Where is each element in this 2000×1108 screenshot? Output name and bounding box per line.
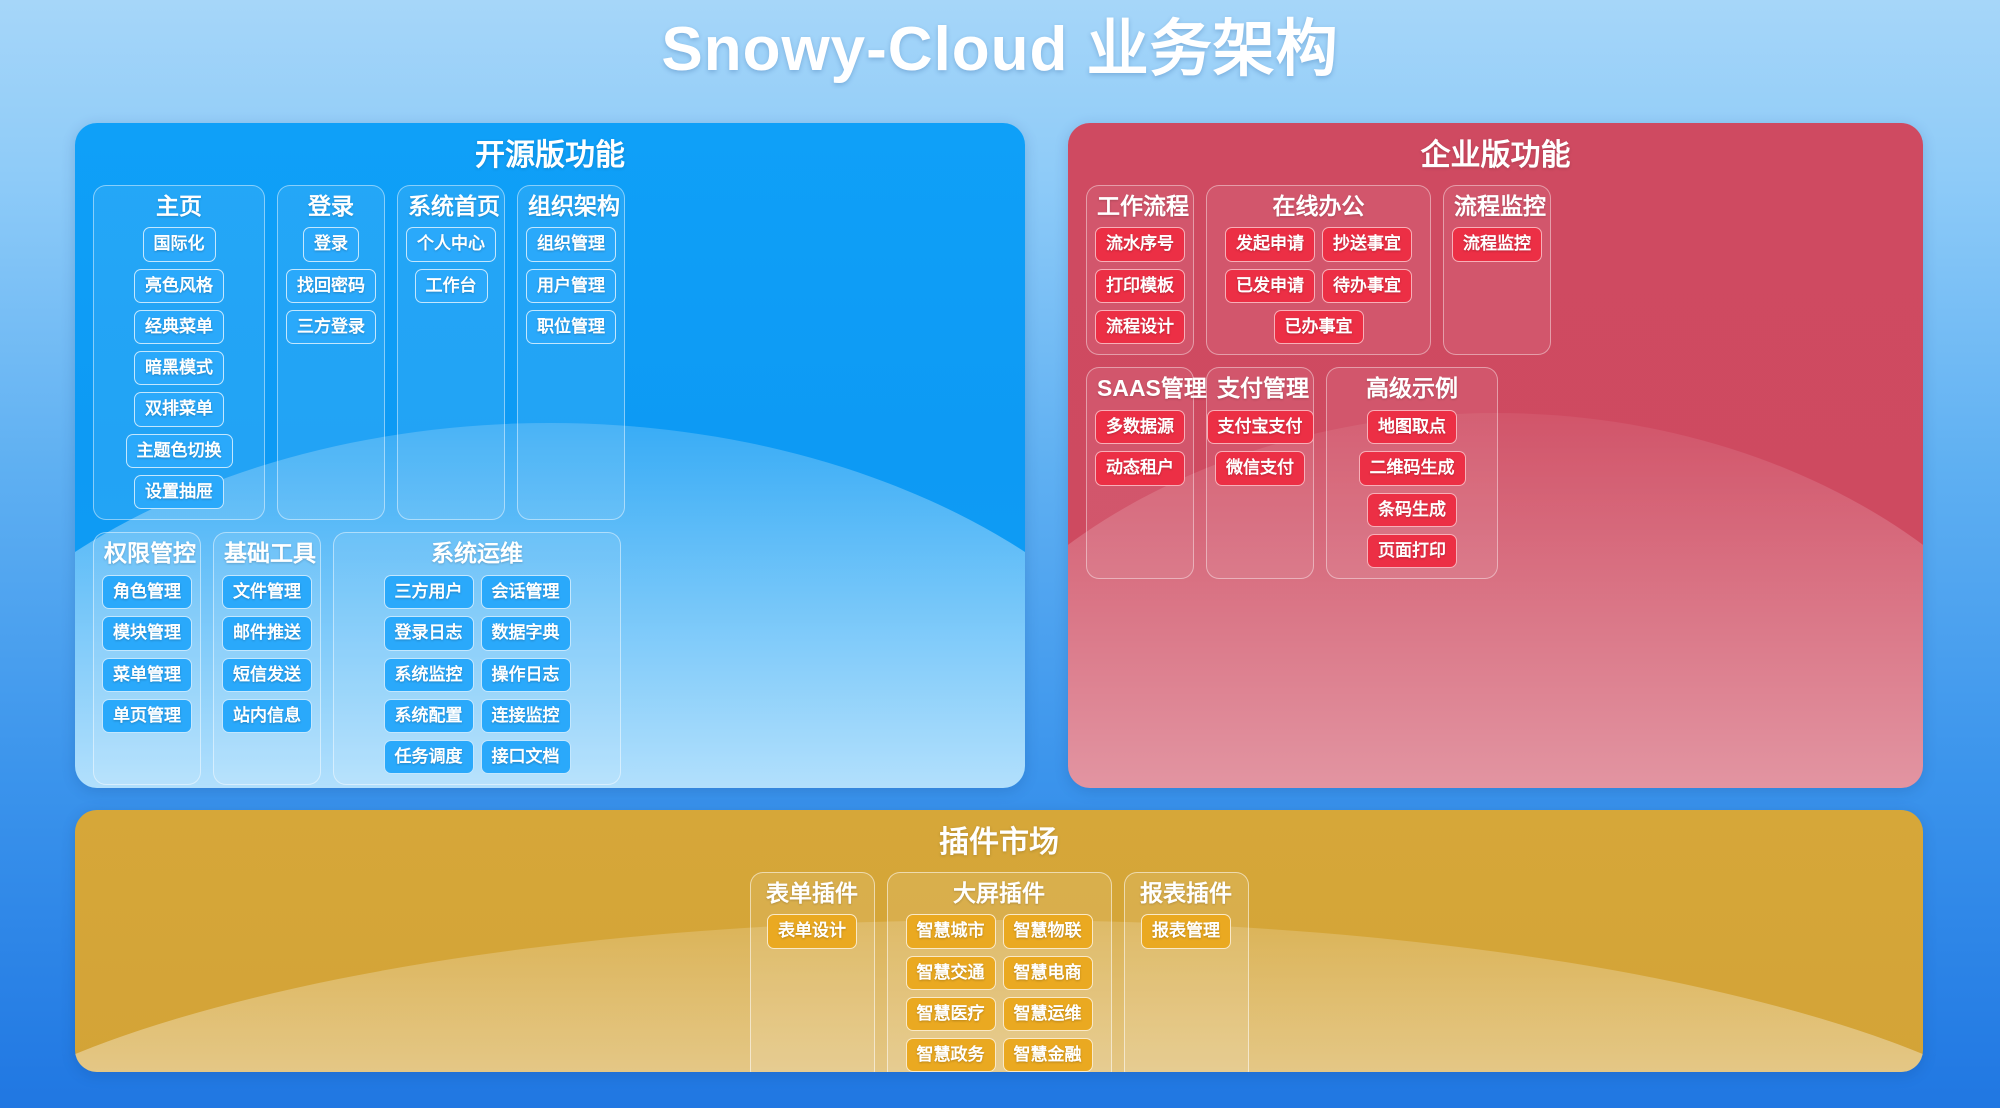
group-row: 工作流程流水序号打印模板流程设计在线办公发起申请抄送事宜已发申请待办事宜已办事宜… xyxy=(1086,185,1905,356)
panel-open-source-groups: 主页国际化亮色风格经典菜单暗黑模式双排菜单主题色切换设置抽屉登录登录找回密码三方… xyxy=(93,185,1007,789)
feature-chip-条码生成[interactable]: 条码生成 xyxy=(1367,493,1457,527)
feature-chip-亮色风格[interactable]: 亮色风格 xyxy=(134,269,224,303)
group-高级示例: 高级示例地图取点二维码生成条码生成页面打印 xyxy=(1326,367,1498,579)
panel-plugin-market: 插件市场 表单插件表单设计大屏插件智慧城市智慧物联智慧交通智慧电商智慧医疗智慧运… xyxy=(75,810,1923,1072)
chip-list: 多数据源动态租户 xyxy=(1097,410,1183,486)
group-支付管理: 支付管理支付宝支付微信支付 xyxy=(1206,367,1314,579)
feature-chip-短信发送[interactable]: 短信发送 xyxy=(222,658,312,692)
panel-enterprise-groups: 工作流程流水序号打印模板流程设计在线办公发起申请抄送事宜已发申请待办事宜已办事宜… xyxy=(1086,185,1905,580)
feature-chip-登录[interactable]: 登录 xyxy=(303,227,359,261)
feature-chip-抄送事宜[interactable]: 抄送事宜 xyxy=(1322,227,1412,261)
feature-chip-智慧交通[interactable]: 智慧交通 xyxy=(906,956,996,990)
group-title: SAAS管理 xyxy=(1097,374,1183,404)
feature-chip-多数据源[interactable]: 多数据源 xyxy=(1095,410,1185,444)
feature-chip-智慧城市[interactable]: 智慧城市 xyxy=(906,914,996,948)
chip-list: 支付宝支付微信支付 xyxy=(1217,410,1303,486)
feature-chip-主题色切换[interactable]: 主题色切换 xyxy=(126,434,233,468)
feature-chip-微信支付[interactable]: 微信支付 xyxy=(1215,451,1305,485)
feature-chip-待办事宜[interactable]: 待办事宜 xyxy=(1322,269,1412,303)
feature-chip-系统监控[interactable]: 系统监控 xyxy=(384,658,474,692)
page-title: Snowy-Cloud 业务架构 xyxy=(0,14,2000,85)
group-表单插件: 表单插件表单设计 xyxy=(750,872,875,1073)
feature-chip-已办事宜[interactable]: 已办事宜 xyxy=(1274,310,1364,344)
group-SAAS管理: SAAS管理多数据源动态租户 xyxy=(1086,367,1194,579)
chip-list: 登录找回密码三方登录 xyxy=(288,227,374,344)
feature-chip-支付宝支付[interactable]: 支付宝支付 xyxy=(1207,410,1314,444)
group-row: 表单插件表单设计大屏插件智慧城市智慧物联智慧交通智慧电商智慧医疗智慧运维智慧政务… xyxy=(93,872,1905,1073)
chip-list: 流程监控 xyxy=(1454,227,1540,261)
feature-chip-站内信息[interactable]: 站内信息 xyxy=(222,699,312,733)
feature-chip-系统配置[interactable]: 系统配置 xyxy=(384,699,474,733)
feature-chip-菜单管理[interactable]: 菜单管理 xyxy=(102,658,192,692)
feature-chip-登录日志[interactable]: 登录日志 xyxy=(384,616,474,650)
feature-chip-职位管理[interactable]: 职位管理 xyxy=(526,310,616,344)
feature-chip-双排菜单[interactable]: 双排菜单 xyxy=(134,392,224,426)
group-流程监控: 流程监控流程监控 xyxy=(1443,185,1551,356)
group-title: 基础工具 xyxy=(224,539,310,569)
group-基础工具: 基础工具文件管理邮件推送短信发送站内信息 xyxy=(213,532,321,785)
feature-chip-经典菜单[interactable]: 经典菜单 xyxy=(134,310,224,344)
feature-chip-三方用户[interactable]: 三方用户 xyxy=(384,575,474,609)
feature-chip-智慧物联[interactable]: 智慧物联 xyxy=(1003,914,1093,948)
feature-chip-国际化[interactable]: 国际化 xyxy=(143,227,216,261)
feature-chip-流程监控[interactable]: 流程监控 xyxy=(1452,227,1542,261)
feature-chip-会话管理[interactable]: 会话管理 xyxy=(481,575,571,609)
feature-chip-智慧金融[interactable]: 智慧金融 xyxy=(1003,1038,1093,1072)
panel-open-source: 开源版功能 主页国际化亮色风格经典菜单暗黑模式双排菜单主题色切换设置抽屉登录登录… xyxy=(75,123,1025,788)
feature-chip-发起申请[interactable]: 发起申请 xyxy=(1225,227,1315,261)
feature-chip-已发申请[interactable]: 已发申请 xyxy=(1225,269,1315,303)
feature-chip-智慧运维[interactable]: 智慧运维 xyxy=(1003,997,1093,1031)
feature-chip-三方登录[interactable]: 三方登录 xyxy=(286,310,376,344)
group-大屏插件: 大屏插件智慧城市智慧物联智慧交通智慧电商智慧医疗智慧运维智慧政务智慧金融 xyxy=(887,872,1112,1073)
feature-chip-报表管理[interactable]: 报表管理 xyxy=(1141,914,1231,948)
chip-list: 发起申请抄送事宜已发申请待办事宜已办事宜 xyxy=(1217,227,1420,344)
chip-list: 个人中心工作台 xyxy=(408,227,494,303)
chip-list: 智慧城市智慧物联智慧交通智慧电商智慧医疗智慧运维智慧政务智慧金融 xyxy=(898,914,1101,1072)
group-在线办公: 在线办公发起申请抄送事宜已发申请待办事宜已办事宜 xyxy=(1206,185,1431,356)
chip-list: 角色管理模块管理菜单管理单页管理 xyxy=(104,575,190,733)
group-系统运维: 系统运维三方用户会话管理登录日志数据字典系统监控操作日志系统配置连接监控任务调度… xyxy=(333,532,621,785)
group-title: 工作流程 xyxy=(1097,192,1183,222)
group-权限管控: 权限管控角色管理模块管理菜单管理单页管理 xyxy=(93,532,201,785)
feature-chip-二维码生成[interactable]: 二维码生成 xyxy=(1359,451,1466,485)
feature-chip-流水序号[interactable]: 流水序号 xyxy=(1095,227,1185,261)
group-主页: 主页国际化亮色风格经典菜单暗黑模式双排菜单主题色切换设置抽屉 xyxy=(93,185,265,521)
chip-list: 三方用户会话管理登录日志数据字典系统监控操作日志系统配置连接监控任务调度接口文档 xyxy=(344,575,610,774)
chip-list: 组织管理用户管理职位管理 xyxy=(528,227,614,344)
group-title: 主页 xyxy=(104,192,254,222)
panel-plugin-market-title: 插件市场 xyxy=(93,824,1905,862)
group-row: 主页国际化亮色风格经典菜单暗黑模式双排菜单主题色切换设置抽屉登录登录找回密码三方… xyxy=(93,185,1007,521)
feature-chip-智慧政务[interactable]: 智慧政务 xyxy=(906,1038,996,1072)
group-登录: 登录登录找回密码三方登录 xyxy=(277,185,385,521)
feature-chip-用户管理[interactable]: 用户管理 xyxy=(526,269,616,303)
group-title: 登录 xyxy=(288,192,374,222)
feature-chip-组织管理[interactable]: 组织管理 xyxy=(526,227,616,261)
chip-list: 地图取点二维码生成条码生成页面打印 xyxy=(1337,410,1487,568)
feature-chip-连接监控[interactable]: 连接监控 xyxy=(481,699,571,733)
feature-chip-个人中心[interactable]: 个人中心 xyxy=(406,227,496,261)
panel-open-source-title: 开源版功能 xyxy=(93,137,1007,175)
feature-chip-任务调度[interactable]: 任务调度 xyxy=(384,740,474,774)
chip-list: 国际化亮色风格经典菜单暗黑模式双排菜单主题色切换设置抽屉 xyxy=(104,227,254,509)
group-title: 系统首页 xyxy=(408,192,494,222)
feature-chip-邮件推送[interactable]: 邮件推送 xyxy=(222,616,312,650)
feature-chip-打印模板[interactable]: 打印模板 xyxy=(1095,269,1185,303)
panel-enterprise-title: 企业版功能 xyxy=(1086,137,1905,175)
feature-chip-单页管理[interactable]: 单页管理 xyxy=(102,699,192,733)
group-title: 支付管理 xyxy=(1217,374,1303,404)
group-title: 报表插件 xyxy=(1135,879,1238,909)
feature-chip-角色管理[interactable]: 角色管理 xyxy=(102,575,192,609)
chip-list: 报表管理 xyxy=(1135,914,1238,948)
feature-chip-工作台[interactable]: 工作台 xyxy=(415,269,488,303)
group-工作流程: 工作流程流水序号打印模板流程设计 xyxy=(1086,185,1194,356)
feature-chip-页面打印[interactable]: 页面打印 xyxy=(1367,534,1457,568)
chip-list: 文件管理邮件推送短信发送站内信息 xyxy=(224,575,310,733)
group-title: 流程监控 xyxy=(1454,192,1540,222)
group-title: 权限管控 xyxy=(104,539,190,569)
group-title: 组织架构 xyxy=(528,192,614,222)
feature-chip-动态租户[interactable]: 动态租户 xyxy=(1095,451,1185,485)
group-title: 大屏插件 xyxy=(898,879,1101,909)
feature-chip-模块管理[interactable]: 模块管理 xyxy=(102,616,192,650)
panel-plugin-market-groups: 表单插件表单设计大屏插件智慧城市智慧物联智慧交通智慧电商智慧医疗智慧运维智慧政务… xyxy=(93,872,1905,1073)
feature-chip-文件管理[interactable]: 文件管理 xyxy=(222,575,312,609)
group-title: 表单插件 xyxy=(761,879,864,909)
panel-enterprise: 企业版功能 工作流程流水序号打印模板流程设计在线办公发起申请抄送事宜已发申请待办… xyxy=(1068,123,1923,788)
group-title: 系统运维 xyxy=(344,539,610,569)
feature-chip-接口文档[interactable]: 接口文档 xyxy=(481,740,571,774)
group-组织架构: 组织架构组织管理用户管理职位管理 xyxy=(517,185,625,521)
feature-chip-找回密码[interactable]: 找回密码 xyxy=(286,269,376,303)
feature-chip-数据字典[interactable]: 数据字典 xyxy=(481,616,571,650)
group-row: SAAS管理多数据源动态租户支付管理支付宝支付微信支付高级示例地图取点二维码生成… xyxy=(1086,367,1905,579)
feature-chip-设置抽屉[interactable]: 设置抽屉 xyxy=(134,475,224,509)
feature-chip-表单设计[interactable]: 表单设计 xyxy=(767,914,857,948)
feature-chip-操作日志[interactable]: 操作日志 xyxy=(481,658,571,692)
group-row: 权限管控角色管理模块管理菜单管理单页管理基础工具文件管理邮件推送短信发送站内信息… xyxy=(93,532,1007,785)
group-系统首页: 系统首页个人中心工作台 xyxy=(397,185,505,521)
feature-chip-智慧电商[interactable]: 智慧电商 xyxy=(1003,956,1093,990)
chip-list: 表单设计 xyxy=(761,914,864,948)
feature-chip-智慧医疗[interactable]: 智慧医疗 xyxy=(906,997,996,1031)
feature-chip-地图取点[interactable]: 地图取点 xyxy=(1367,410,1457,444)
chip-list: 流水序号打印模板流程设计 xyxy=(1097,227,1183,344)
group-报表插件: 报表插件报表管理 xyxy=(1124,872,1249,1073)
group-title: 高级示例 xyxy=(1337,374,1487,404)
group-title: 在线办公 xyxy=(1217,192,1420,222)
feature-chip-暗黑模式[interactable]: 暗黑模式 xyxy=(134,351,224,385)
feature-chip-流程设计[interactable]: 流程设计 xyxy=(1095,310,1185,344)
